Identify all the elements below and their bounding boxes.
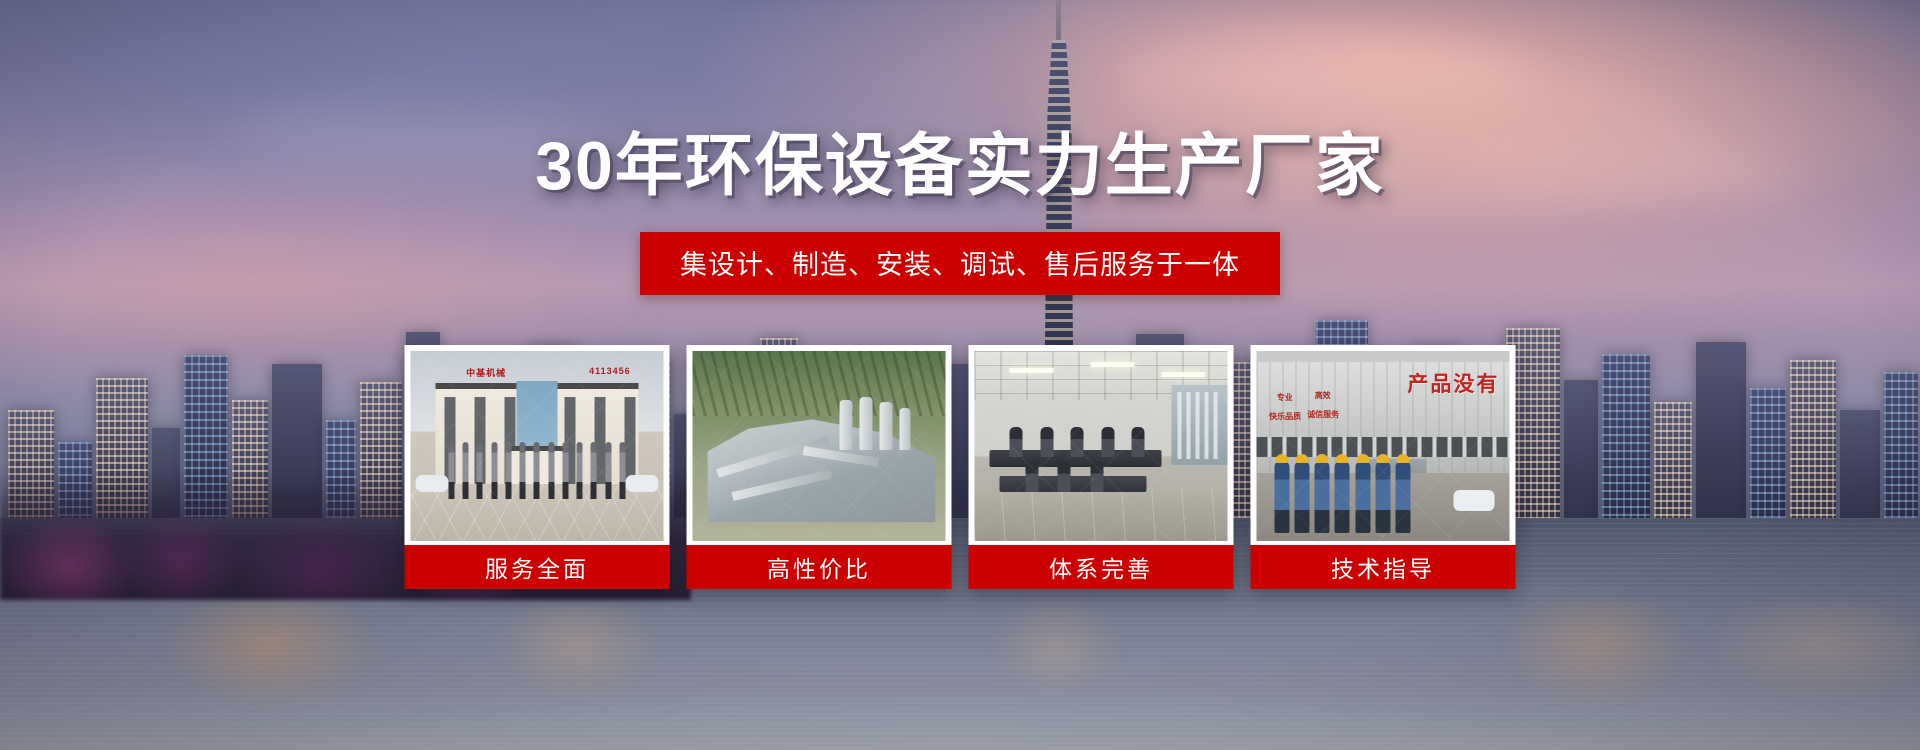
hero-banner: 30年环保设备实力生产厂家 集设计、制造、安装、调试、售后服务于一体 中基机械 …	[0, 0, 1920, 750]
banner-headline: 30年环保设备实力生产厂家	[0, 110, 1920, 209]
factory-slogan-mid: 高效	[1315, 391, 1331, 401]
factory-slogan-left2: 快乐品质	[1269, 412, 1301, 422]
banner-subtitle-bar: 集设计、制造、安装、调试、售后服务于一体	[640, 232, 1280, 295]
card-label: 服务全面	[405, 545, 670, 589]
feature-card[interactable]: 产品没有 专业 快乐品质 高效 诚信服务	[1251, 345, 1516, 589]
card-label: 体系完善	[969, 545, 1234, 589]
card-photo-company-office: 中基机械 4113456	[411, 351, 664, 541]
banner-content: 30年环保设备实力生产厂家 集设计、制造、安装、调试、售后服务于一体 中基机械 …	[0, 0, 1920, 750]
factory-slogan-left: 专业	[1277, 393, 1293, 403]
factory-slogan-main: 产品没有	[1407, 368, 1499, 398]
feature-card[interactable]: 中基机械 4113456 服务全面	[405, 345, 670, 589]
card-label: 高性价比	[687, 545, 952, 589]
card-photo-factory-workers: 产品没有 专业 快乐品质 高效 诚信服务	[1257, 351, 1510, 541]
factory-slogan-mid2: 诚信服务	[1307, 410, 1339, 420]
building-phone-text: 4113456	[589, 366, 631, 376]
card-photo-office-interior	[975, 351, 1228, 541]
card-label: 技术指导	[1251, 545, 1516, 589]
feature-card-row: 中基机械 4113456 服务全面	[405, 345, 1516, 589]
building-brand-text: 中基机械	[466, 366, 506, 379]
card-photo-industrial-plant	[693, 351, 946, 541]
feature-card[interactable]: 高性价比	[687, 345, 952, 589]
feature-card[interactable]: 体系完善	[969, 345, 1234, 589]
